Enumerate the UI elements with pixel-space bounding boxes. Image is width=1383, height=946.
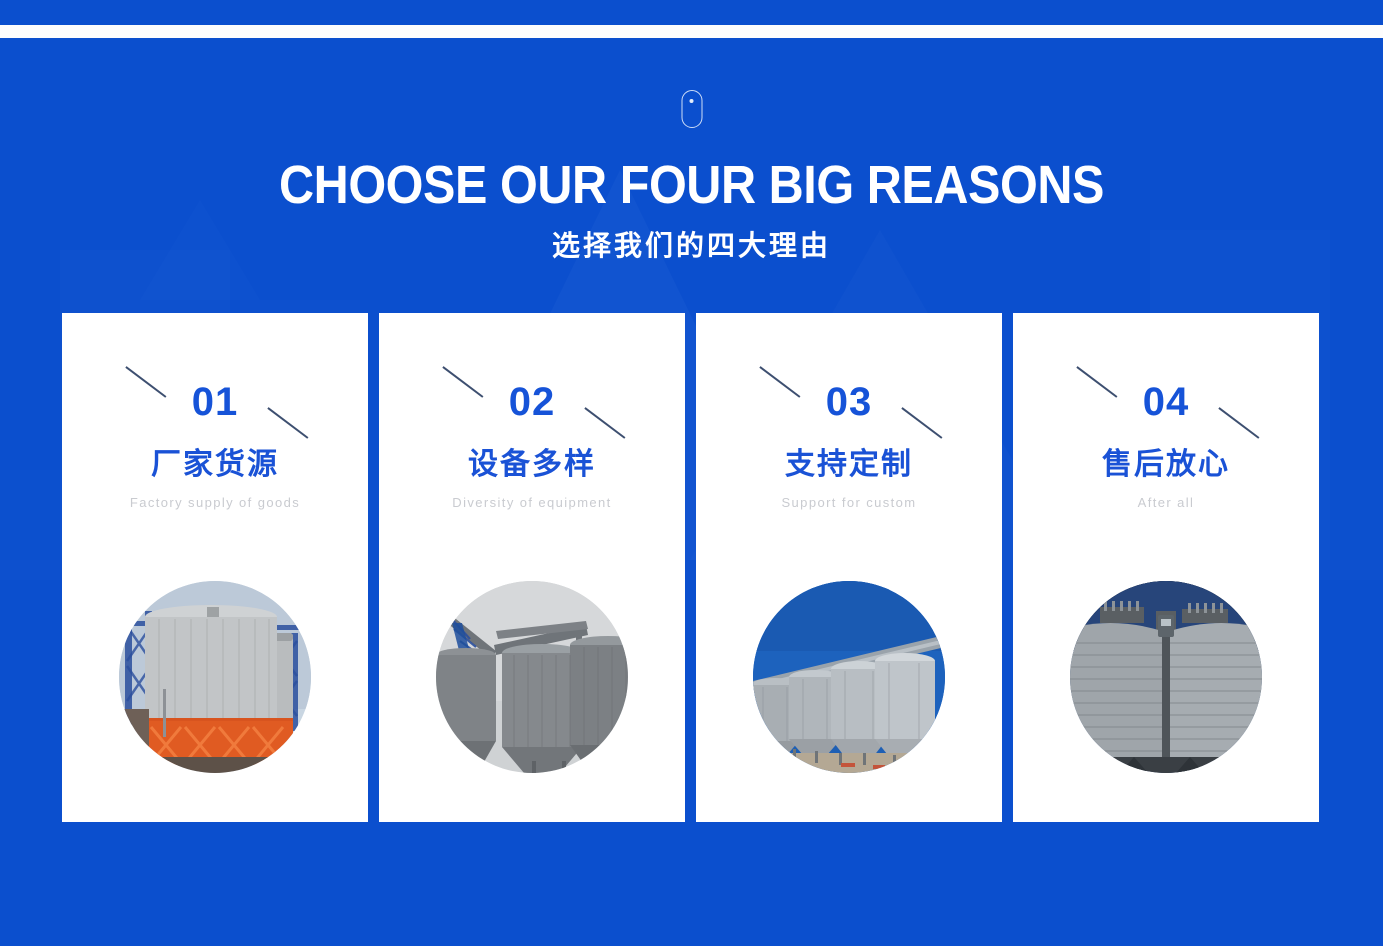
slash-top-left-icon (760, 366, 801, 397)
page-title-cn: 选择我们的四大理由 (0, 229, 1383, 263)
card-title-cn: 售后放心 (1102, 447, 1230, 483)
card-number: 01 (192, 382, 239, 422)
card-title-cn: 厂家货源 (151, 447, 279, 483)
grey-hopper-silos-photo (436, 581, 628, 773)
mouse-scroll-pill-icon[interactable] (681, 90, 702, 128)
card-title-cn: 支持定制 (785, 447, 913, 483)
card-number-row: 02 (432, 371, 632, 433)
slash-bottom-right-icon (585, 408, 626, 439)
reason-card[interactable]: 03 支持定制 Support for custom (696, 313, 1002, 822)
slash-bottom-right-icon (268, 408, 309, 439)
card-number: 04 (1143, 382, 1190, 422)
reason-card-list: 01 厂家货源 Factory supply of goods (62, 313, 1321, 822)
reason-card[interactable]: 04 售后放心 After all (1013, 313, 1319, 822)
corrugated-steel-silos-closeup-photo (1070, 581, 1262, 773)
slash-bottom-right-icon (902, 408, 943, 439)
silo-with-orange-support-frame-photo (119, 581, 311, 773)
slash-top-left-icon (443, 366, 484, 397)
slash-top-left-icon (126, 366, 167, 397)
row-of-galvanized-silos-photo (753, 581, 945, 773)
card-number-row: 03 (749, 371, 949, 433)
reason-card[interactable]: 01 厂家货源 Factory supply of goods (62, 313, 368, 822)
card-title-cn: 设备多样 (468, 447, 596, 483)
card-number-row: 01 (115, 371, 315, 433)
slash-top-left-icon (1077, 366, 1118, 397)
card-title-en: Support for custom (754, 493, 944, 512)
top-white-band (0, 25, 1383, 38)
card-number-row: 04 (1066, 371, 1266, 433)
reason-card[interactable]: 02 设备多样 Diversity of equipment (379, 313, 685, 822)
card-number: 03 (826, 382, 873, 422)
page-title-en: CHOOSE OUR FOUR BIG REASONS (69, 155, 1314, 215)
card-title-en: Diversity of equipment (437, 493, 627, 512)
slash-bottom-right-icon (1219, 408, 1260, 439)
card-title-en: Factory supply of goods (120, 493, 310, 512)
page-root: CHOOSE OUR FOUR BIG REASONS 选择我们的四大理由 01… (0, 0, 1383, 946)
section-heading: CHOOSE OUR FOUR BIG REASONS 选择我们的四大理由 (0, 155, 1383, 263)
card-number: 02 (509, 382, 556, 422)
card-title-en: After all (1071, 493, 1261, 512)
scroll-dot-icon (690, 99, 694, 103)
